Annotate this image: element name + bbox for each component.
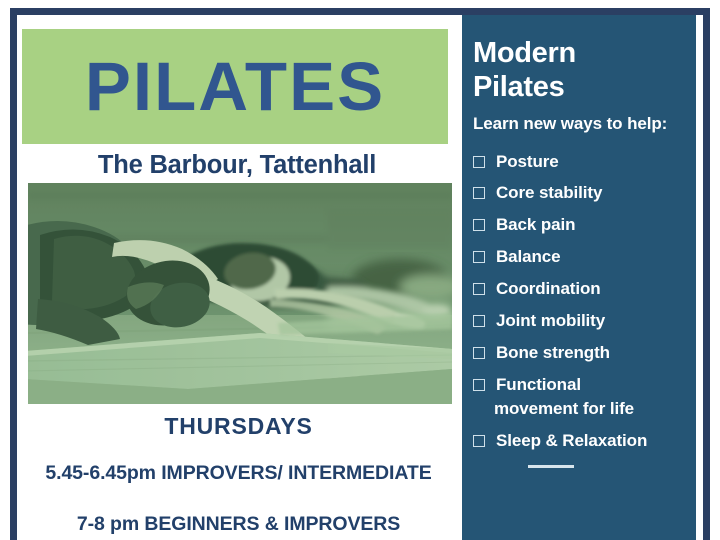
- pilates-poster: PILATES The Barbour, Tattenhall: [0, 0, 720, 540]
- poster-frame-right: [703, 8, 710, 540]
- benefit-label-continued: movement for life: [494, 399, 634, 419]
- list-item: Back pain: [473, 215, 696, 235]
- checkbox-icon: [473, 435, 485, 447]
- benefit-label: Bone strength: [496, 343, 610, 363]
- list-item: Bone strength: [473, 343, 696, 363]
- list-item: Coordination: [473, 279, 696, 299]
- poster-frame-top: [10, 8, 710, 15]
- checkbox-icon: [473, 187, 485, 199]
- list-indent-spacer: [473, 399, 483, 409]
- benefits-panel: Modern Pilates Learn new ways to help: P…: [462, 15, 696, 540]
- list-item: Balance: [473, 247, 696, 267]
- benefit-label: Core stability: [496, 183, 602, 203]
- panel-divider: [528, 465, 574, 468]
- pilates-photo-illustration: [28, 183, 452, 404]
- benefit-label: Balance: [496, 247, 561, 267]
- pilates-class-photo: [28, 183, 452, 404]
- panel-subheading: Learn new ways to help:: [473, 113, 696, 135]
- benefit-label: Joint mobility: [496, 311, 605, 331]
- list-item: Functional: [473, 375, 696, 395]
- schedule-session-1: 5.45-6.45pm IMPROVERS/ INTERMEDIATE: [17, 462, 460, 485]
- checkbox-icon: [473, 347, 485, 359]
- panel-heading-line-1: Modern: [473, 37, 696, 71]
- checkbox-icon: [473, 251, 485, 263]
- title-banner: PILATES: [22, 29, 448, 144]
- venue-label: The Barbour, Tattenhall: [17, 151, 457, 180]
- benefit-label: Sleep & Relaxation: [496, 431, 647, 451]
- panel-heading-line-2: Pilates: [473, 71, 696, 105]
- list-item: Core stability: [473, 183, 696, 203]
- list-item: Posture: [473, 152, 696, 172]
- list-item: Sleep & Relaxation: [473, 431, 696, 451]
- benefit-label: Functional: [496, 375, 581, 395]
- checkbox-icon: [473, 283, 485, 295]
- page-title: PILATES: [85, 52, 385, 121]
- panel-heading: Modern Pilates: [473, 37, 696, 105]
- checkbox-icon: [473, 315, 485, 327]
- schedule-day: THURSDAYS: [17, 413, 460, 440]
- benefit-label: Posture: [496, 152, 559, 172]
- checkbox-icon: [473, 156, 485, 168]
- benefit-label: Back pain: [496, 215, 575, 235]
- benefits-list: Posture Core stability Back pain Balance…: [473, 152, 696, 452]
- checkbox-icon: [473, 219, 485, 231]
- schedule-session-2: 7-8 pm BEGINNERS & IMPROVERS: [17, 513, 460, 536]
- benefit-label: Coordination: [496, 279, 601, 299]
- poster-frame-left: [10, 8, 17, 540]
- list-item: Joint mobility: [473, 311, 696, 331]
- list-item-continuation: movement for life: [473, 399, 696, 419]
- checkbox-icon: [473, 379, 485, 391]
- schedule-block: THURSDAYS 5.45-6.45pm IMPROVERS/ INTERME…: [17, 413, 460, 536]
- left-column: PILATES The Barbour, Tattenhall: [17, 15, 462, 540]
